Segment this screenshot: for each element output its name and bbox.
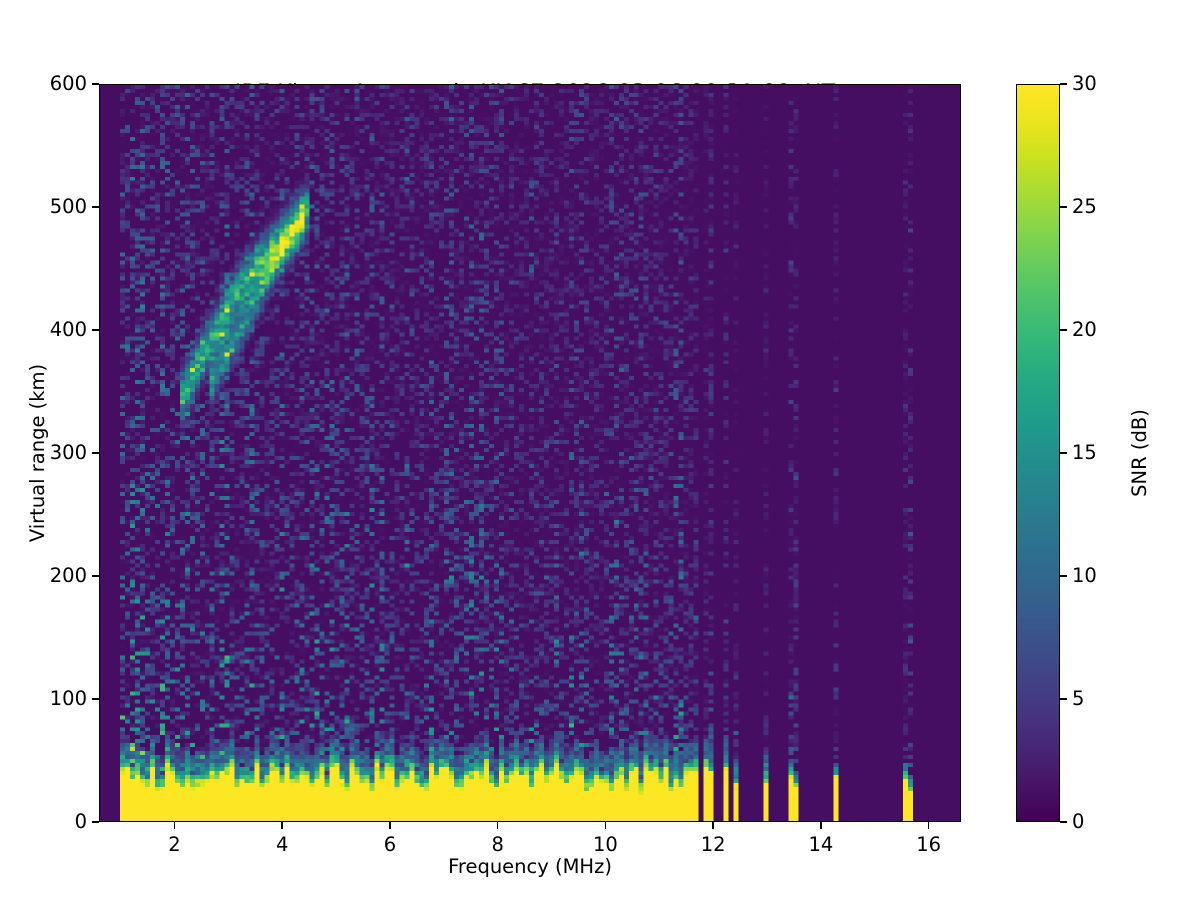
x-tick-mark — [281, 822, 283, 829]
y-tick-mark — [92, 329, 99, 331]
y-tick-mark — [92, 452, 99, 454]
y-tick-mark — [92, 698, 99, 700]
colorbar-gradient — [1017, 85, 1059, 821]
y-tick-mark — [92, 821, 99, 823]
plot-area[interactable] — [99, 84, 961, 822]
x-tick-label: 12 — [673, 833, 753, 856]
colorbar-tick-label: 25 — [1072, 195, 1097, 218]
x-tick-label: 2 — [134, 833, 214, 856]
x-tick-mark — [174, 822, 176, 829]
x-tick-mark — [820, 822, 822, 829]
colorbar-tick-label: 10 — [1072, 564, 1097, 587]
colorbar-tick-label: 5 — [1072, 687, 1084, 710]
colorbar-tick-label: 30 — [1072, 72, 1097, 95]
x-tick-label: 6 — [350, 833, 430, 856]
colorbar-tick-mark — [1060, 452, 1067, 454]
x-axis-label: Frequency (MHz) — [99, 855, 961, 878]
colorbar[interactable] — [1016, 84, 1060, 822]
colorbar-label: SNR (dB) — [1128, 84, 1151, 822]
x-tick-mark — [712, 822, 714, 829]
x-tick-label: 4 — [242, 833, 322, 856]
y-axis-label: Virtual range (km) — [26, 84, 49, 822]
x-tick-mark — [605, 822, 607, 829]
colorbar-tick-label: 0 — [1072, 810, 1084, 833]
x-tick-label: 16 — [889, 833, 969, 856]
x-tick-mark — [497, 822, 499, 829]
x-tick-label: 14 — [781, 833, 861, 856]
colorbar-tick-mark — [1060, 575, 1067, 577]
colorbar-tick-label: 20 — [1072, 318, 1097, 341]
x-tick-mark — [928, 822, 930, 829]
x-tick-mark — [389, 822, 391, 829]
ionogram-figure: IRF Kiruna Ionosonde KI167 2026-03-06 00… — [0, 0, 1200, 900]
colorbar-tick-mark — [1060, 698, 1067, 700]
colorbar-tick-label: 15 — [1072, 441, 1097, 464]
y-tick-mark — [92, 575, 99, 577]
ionogram-heatmap — [100, 85, 960, 821]
x-tick-label: 10 — [565, 833, 645, 856]
x-tick-label: 8 — [458, 833, 538, 856]
colorbar-tick-mark — [1060, 329, 1067, 331]
colorbar-tick-mark — [1060, 821, 1067, 823]
